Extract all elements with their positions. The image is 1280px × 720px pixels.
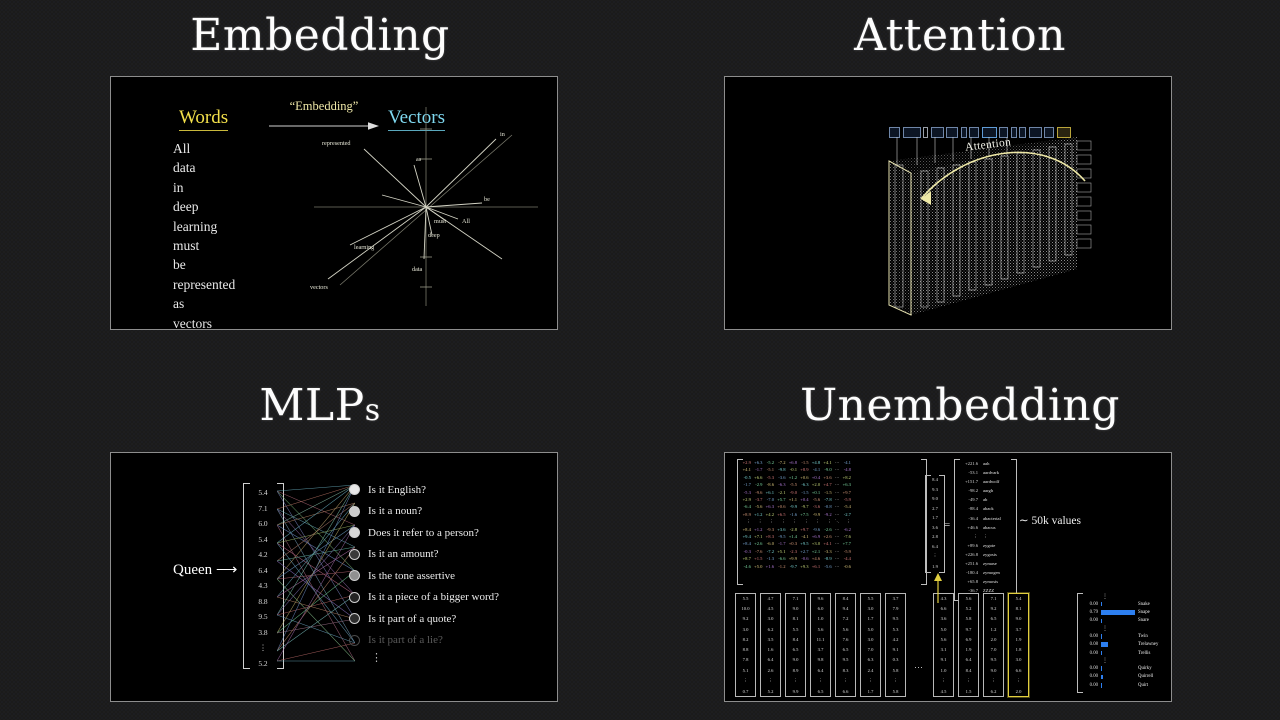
matrix-cell: -5.1	[764, 466, 776, 473]
equals-sign: =	[944, 519, 950, 531]
prediction-value: 0.79	[1085, 610, 1098, 615]
neuron-dot-icon	[349, 484, 360, 495]
prediction-distribution: ⋮0.00Snake0.79Snape0.00Snare⋮0.00Twin0.0…	[1085, 593, 1172, 690]
matrix-cell: -4.4	[841, 555, 853, 562]
matrix-cell: -5.9	[841, 496, 853, 503]
matrix-cell: -7.8	[822, 496, 834, 503]
prediction-row[interactable]: 0.00Quirt	[1085, 681, 1172, 689]
context-value: 2.6	[768, 668, 774, 673]
prediction-bar	[1101, 683, 1102, 688]
context-value: 5.8	[893, 668, 899, 673]
context-vector-grid: 5.510.09.23.08.28.87.85.1⋮0.74.74.53.06.…	[735, 593, 1029, 697]
prediction-word: Snare	[1138, 618, 1172, 623]
plot-label: vectors	[310, 284, 328, 291]
input-vector-value: 6.4	[932, 544, 938, 549]
matrix-cell: +1.4	[787, 533, 799, 540]
prediction-bar	[1101, 619, 1102, 624]
matrix-cell: -0.8	[822, 503, 834, 510]
context-column[interactable]: 9.66.01.05.611.13.79.86.4⋮6.5	[810, 593, 831, 697]
matrix-cell: +8.3	[764, 533, 776, 540]
matrix-row: +8.4+2.6-6.0-1.7+0.3+9.5+3.0+4.1⋯+7.7	[741, 540, 853, 547]
unembedding-title: Unembedding	[640, 380, 1280, 432]
prediction-row[interactable]: 0.00Trellis	[1085, 649, 1172, 657]
vector-value: 5.2	[258, 659, 267, 668]
prediction-row[interactable]: 0.00Snare	[1085, 617, 1172, 625]
word-item: All	[173, 139, 235, 158]
matrix-cell: -0.6	[841, 563, 853, 570]
input-vector-value: 2.8	[932, 534, 938, 539]
context-value: 11.1	[817, 637, 825, 642]
context-column[interactable]: 3.77.99.55.34.29.10.35.8⋮5.8	[885, 593, 906, 697]
prediction-bar-track	[1101, 675, 1135, 680]
context-value: ⋮	[991, 678, 996, 684]
matrix-cell: +0.4	[799, 496, 811, 503]
context-value: 1.9	[966, 647, 972, 652]
prediction-value: 0.08	[1085, 642, 1098, 647]
context-column[interactable]: 5.53.01.75.03.07.06.32.4⋮1.7	[860, 593, 881, 697]
context-value: 3.7	[1016, 627, 1022, 632]
matrix-cell: -6.6	[776, 555, 788, 562]
context-value: 3.0	[768, 616, 774, 621]
context-value: 6.3	[868, 657, 874, 662]
plot-label: represented	[322, 140, 351, 147]
matrix-cell: +1.2	[787, 474, 799, 481]
output-word: zymosis	[983, 577, 1017, 586]
neuron-dot-icon	[349, 549, 360, 560]
matrix-cell: -9.0	[787, 489, 799, 496]
matrix-row: -6.4-5.6+6.3+0.6-9.9-9.7-3.6-0.8⋯-5.4	[741, 503, 853, 510]
mlp-question-row[interactable]: Is it part of a lie?	[349, 630, 549, 652]
context-value: 1.6	[768, 647, 774, 652]
matrix-cell: -1.3	[764, 555, 776, 562]
context-value: 1.9	[1016, 637, 1022, 642]
context-column[interactable]: 4.36.63.65.05.63.19.11.0⋮4.5	[933, 593, 954, 697]
input-vector-value: ⋮	[933, 553, 938, 559]
context-value: 9.5	[843, 657, 849, 662]
matrix-cell: -9.8	[776, 466, 788, 473]
output-row: -180.4zymogen	[957, 568, 1017, 577]
context-value: 8.4	[966, 668, 972, 673]
word-item: vectors	[173, 314, 235, 330]
matrix-cell: ⋮	[741, 518, 753, 525]
prediction-bar	[1101, 675, 1103, 680]
matrix-cell: -3.3	[822, 548, 834, 555]
matrix-cell: +1.1	[787, 496, 799, 503]
context-value: 9.0	[793, 657, 799, 662]
context-value: 9.2	[743, 616, 749, 621]
prediction-value: 0.00	[1085, 666, 1098, 671]
matrix-row: +2.9-3.7-7.0+5.7+1.1+0.4-5.6-7.8⋯-5.9	[741, 496, 853, 503]
context-value: ⋮	[941, 678, 946, 684]
context-value: 5.6	[966, 596, 972, 601]
embedding-word-list: All data in deep learning must be repres…	[173, 139, 235, 330]
input-vector-value: 2.7	[932, 506, 938, 511]
prediction-ellipsis: ⋮	[1085, 593, 1172, 600]
matrix-cell: +4.6	[810, 555, 822, 562]
matrix-cell: -2.9	[753, 481, 765, 488]
context-value: 6.6	[941, 606, 947, 611]
matrix-cell: +5.0	[753, 563, 765, 570]
context-value: ⋮	[743, 678, 748, 684]
prediction-row[interactable]: 0.08Trelawney	[1085, 641, 1172, 649]
value-count-annotation: ∼ 50k values	[1019, 513, 1081, 527]
context-value: 5.1	[743, 668, 749, 673]
context-value: 6.4	[966, 657, 972, 662]
matrix-cell: +8.9	[741, 511, 753, 518]
mlp-question-label: Is it English?	[368, 484, 426, 496]
mlp-question-label: Is it an amount?	[368, 548, 439, 560]
matrix-cell: -1.2	[776, 563, 788, 570]
vector-value: 7.1	[258, 504, 267, 513]
matrix-cell: -5.2	[764, 459, 776, 466]
prediction-bar-track	[1101, 602, 1135, 607]
matrix-cell: +2.9	[741, 496, 753, 503]
output-row: -98.2aargh	[957, 486, 1017, 495]
mlp-question-label: Is the tone assertive	[368, 570, 455, 582]
output-row: +46.6abacus	[957, 523, 1017, 532]
prediction-bar-track	[1101, 634, 1135, 639]
plot-label: in	[500, 131, 505, 138]
context-value: 9.4	[843, 606, 849, 611]
word-item: must	[173, 236, 235, 255]
word-item: represented	[173, 275, 235, 294]
matrix-cell: -4.1	[841, 459, 853, 466]
matrix-cell: -1.7	[741, 481, 753, 488]
matrix-cell: ⋯	[833, 496, 841, 503]
matrix-cell: -3.6	[810, 503, 822, 510]
output-value: +251.6	[957, 559, 978, 568]
matrix-cell: +6.3	[841, 481, 853, 488]
output-row: ⋮⋮	[957, 532, 1017, 541]
context-value: 9.5	[991, 657, 997, 662]
context-value: 6.5	[991, 616, 997, 621]
matrix-cell: +0.6	[799, 474, 811, 481]
context-value: 6.6	[843, 689, 849, 694]
matrix-cell: ⋯	[833, 548, 841, 555]
context-value: ⋮	[818, 678, 823, 684]
output-row: +65.8zymosis	[957, 577, 1017, 586]
context-value: 8.1	[793, 616, 799, 621]
context-value: 1.0	[818, 616, 824, 621]
context-value: 10.0	[741, 606, 749, 611]
matrix-cell: -9.6	[810, 526, 822, 533]
matrix-cell: -9.9	[810, 511, 822, 518]
matrix-cell: ⋯	[833, 489, 841, 496]
output-value: -36.4	[957, 514, 978, 523]
output-value: +226.8	[957, 550, 978, 559]
matrix-cell: -9.3	[764, 526, 776, 533]
context-value: 3.0	[1016, 657, 1022, 662]
plot-label: learning	[354, 244, 374, 251]
output-word: abacterial	[983, 514, 1017, 523]
context-value: 5.6	[818, 627, 824, 632]
matrix-cell: +9.7	[799, 526, 811, 533]
prediction-value: 0.00	[1085, 674, 1098, 679]
matrix-cell: -9.6	[753, 489, 765, 496]
output-word: aback	[983, 504, 1017, 513]
input-vector-value: 1.9	[932, 564, 938, 569]
matrix-cell: +1.6	[764, 563, 776, 570]
neuron-dot-icon	[349, 506, 360, 517]
embedding-vector-plot: in represented as be All must deep learn…	[306, 99, 546, 314]
prediction-row[interactable]: 0.00Quirrell	[1085, 673, 1172, 681]
context-value: 9.6	[818, 596, 824, 601]
context-value: 6.5	[818, 689, 824, 694]
matrix-cell: -6.3	[799, 481, 811, 488]
context-value: 6.5	[843, 647, 849, 652]
matrix-cell: ⋮	[799, 518, 811, 525]
prediction-bar-track	[1101, 619, 1135, 624]
mlp-question-list: Is it English? Is it a noun? Does it ref…	[349, 479, 549, 664]
input-vector-value: 1.7	[932, 515, 938, 520]
output-word: abacus	[983, 523, 1017, 532]
output-value: +151.7	[957, 477, 978, 486]
plot-label: data	[412, 266, 423, 273]
plot-label: as	[416, 156, 422, 163]
matrix-cell: +5.7	[776, 496, 788, 503]
matrix-cell: +2.9	[741, 459, 753, 466]
matrix-cell: ⋮	[776, 518, 788, 525]
vector-value: 5.4	[258, 488, 267, 497]
output-value: +65.8	[957, 577, 978, 586]
word-item: in	[173, 178, 235, 197]
prediction-row[interactable]: 0.00Quirky	[1085, 664, 1172, 672]
matrix-cell: -5.3	[764, 474, 776, 481]
matrix-row: +2.9+6.3-5.2-7.2+6.8-1.5+4.8+4.1⋯-4.1	[741, 459, 853, 466]
matrix-cell: ⋯	[833, 503, 841, 510]
context-value: 7.1	[793, 596, 799, 601]
matrix-cell: +1.2	[753, 511, 765, 518]
matrix-cell: -1.7	[776, 540, 788, 547]
prediction-bar	[1101, 634, 1102, 639]
prediction-word: Quirrell	[1138, 674, 1172, 679]
matrix-cell: -2.1	[776, 489, 788, 496]
matrix-cell: ⋯	[833, 511, 841, 518]
output-row: +221.6aah	[957, 459, 1017, 468]
mlp-question-row[interactable]: Does it refer to a person?	[349, 522, 549, 544]
context-value: 7.9	[893, 606, 899, 611]
matrix-cell: +0.4	[810, 474, 822, 481]
prediction-value: 0.00	[1085, 683, 1098, 688]
context-value: ⋮	[1016, 678, 1021, 684]
context-value: 9.7	[966, 627, 972, 632]
vector-value: 4.3	[258, 581, 267, 590]
input-vector-value: 3.6	[932, 525, 938, 530]
context-column[interactable]: 7.19.26.51.22.07.09.59.0⋮6.2	[983, 593, 1004, 697]
output-row: +151.7aardwolf	[957, 477, 1017, 486]
matrix-cell: -5.6	[822, 563, 834, 570]
matrix-cell: -9.9	[787, 503, 799, 510]
context-column[interactable]: 8.49.47.25.67.66.59.58.3⋮6.6	[835, 593, 856, 697]
context-value: 9.2	[991, 606, 997, 611]
matrix-cell: -5.3	[741, 489, 753, 496]
context-value: 5.0	[941, 627, 947, 632]
matrix-cell: ⋮	[810, 518, 822, 525]
matrix-cell: +4.8	[810, 459, 822, 466]
matrix-cell: ⋯	[833, 481, 841, 488]
matrix-cell: -7.2	[776, 459, 788, 466]
words-heading: Words	[179, 107, 228, 131]
prediction-bar-track	[1101, 683, 1135, 688]
matrix-cell: -7.2	[764, 548, 776, 555]
prediction-word: Snake	[1138, 602, 1172, 607]
matrix-cell: +2.6	[753, 540, 765, 547]
context-value: 5.3	[893, 627, 899, 632]
mlp-input-word: Queen ⟶	[173, 560, 237, 579]
quadrant-embedding: Embedding Words “Embedding” Vectors All …	[0, 0, 640, 360]
mlp-question-row[interactable]: Is it part of a quote?	[349, 608, 549, 630]
output-row: -88.4aback	[957, 504, 1017, 513]
context-column-highlighted[interactable]: 5.48.19.03.71.91.83.06.6⋮2.0	[1008, 593, 1029, 697]
vector-value: 9.5	[258, 612, 267, 621]
matrix-cell: -5.9	[841, 548, 853, 555]
output-row: +251.6zymase	[957, 559, 1017, 568]
output-row: -53.1aardvark	[957, 468, 1017, 477]
matrix-cell: -9.5	[776, 533, 788, 540]
matrix-cell: +3.0	[810, 540, 822, 547]
context-value: 8.4	[793, 637, 799, 642]
context-value: 5.0	[868, 627, 874, 632]
matrix-cell: -0.3	[741, 548, 753, 555]
mlp-question-row[interactable]: Is it a noun?	[349, 501, 549, 523]
word-item: data	[173, 158, 235, 177]
prediction-value: 0.00	[1085, 634, 1098, 639]
matrix-cell: -8.6	[764, 481, 776, 488]
attention-block-diagram	[725, 77, 1171, 329]
input-vector-value: 8.4	[932, 477, 938, 482]
matrix-cell: +8.4	[741, 540, 753, 547]
context-value: 9.1	[941, 657, 947, 662]
mlp-question-row[interactable]: Is it English?	[349, 479, 549, 501]
context-value: 2.0	[991, 637, 997, 642]
quadrant-attention: Attention	[640, 0, 1280, 360]
prediction-bar-track	[1101, 642, 1135, 647]
prediction-row[interactable]: 0.00Twin	[1085, 632, 1172, 640]
neuron-dot-icon	[349, 613, 360, 624]
matrix-cell: +0.3	[787, 540, 799, 547]
context-value: 8.8	[743, 647, 749, 652]
matrix-cell: -9.0	[822, 466, 834, 473]
context-value: 5.5	[743, 596, 749, 601]
prediction-bar	[1101, 666, 1102, 671]
context-value: 1.5	[966, 689, 972, 694]
context-value: 5.5	[868, 596, 874, 601]
mlp-question-label: Is it a noun?	[368, 505, 422, 517]
matrix-cell: -5.4	[841, 503, 853, 510]
mlp-question-label: Is it a piece of a bigger word?	[368, 591, 499, 603]
output-value: -53.1	[957, 468, 978, 477]
matrix-row: -0.3-7.6-7.2+5.1-2.3+2.7+2.1-3.3⋯-5.9	[741, 548, 853, 555]
context-value: 5.2	[768, 689, 774, 694]
matrix-row: +8.4+1.2-9.3+3.6-2.8+9.7-9.6-2.6⋯-6.2	[741, 526, 853, 533]
output-value: -98.2	[957, 486, 978, 495]
context-value: 9.0	[1016, 616, 1022, 621]
matrix-cell: +2.6	[822, 533, 834, 540]
context-column[interactable]: 4.74.53.06.23.51.66.42.6⋮5.2	[760, 593, 781, 697]
matrix-cell: +6.5	[776, 511, 788, 518]
neuron-dot-icon	[349, 635, 360, 646]
context-value: 6.4	[768, 657, 774, 662]
unembedding-input-vector: 8.49.39.02.71.73.62.86.4⋮1.9	[927, 477, 943, 569]
prediction-value: 0.00	[1085, 651, 1098, 656]
prediction-ellipsis: ⋮	[1085, 657, 1172, 664]
matrix-cell: -7.0	[764, 496, 776, 503]
matrix-cell: ⋮	[822, 518, 834, 525]
matrix-cell: +4.2	[764, 511, 776, 518]
context-value: ⋮	[843, 678, 848, 684]
output-word: ⋮	[983, 532, 1017, 541]
plot-label: All	[462, 218, 470, 225]
plot-label: must	[434, 218, 446, 225]
output-row: -36.4abacterial	[957, 514, 1017, 523]
embedding-title: Embedding	[0, 10, 640, 62]
prediction-bar	[1101, 642, 1108, 647]
context-value: 9.9	[793, 689, 799, 694]
context-value: ⋮	[793, 678, 798, 684]
context-value: 5.8	[893, 689, 899, 694]
matrix-cell: ⋯	[833, 533, 841, 540]
prediction-bar	[1101, 610, 1135, 615]
matrix-cell: +5.1	[776, 548, 788, 555]
context-value: 0.3	[893, 657, 899, 662]
matrix-cell: -3.7	[753, 496, 765, 503]
matrix-cell: +8.7	[741, 555, 753, 562]
matrix-cell: -4.1	[799, 533, 811, 540]
matrix-cell: +8.2	[841, 474, 853, 481]
embedding-panel: Words “Embedding” Vectors All data in de…	[110, 76, 558, 330]
matrix-cell: ⋱	[833, 518, 841, 525]
context-column[interactable]: 7.19.08.15.58.46.59.08.9⋮9.9	[785, 593, 806, 697]
context-value: 1.0	[941, 668, 947, 673]
matrix-cell: +8.4	[741, 526, 753, 533]
mlp-question-label: Is it part of a lie?	[368, 634, 443, 646]
context-value: ⋮	[966, 678, 971, 684]
prediction-word: Snape	[1138, 610, 1172, 615]
matrix-cell: +3.6	[776, 526, 788, 533]
matrix-cell: -1.5	[822, 489, 834, 496]
mlp-question-row[interactable]: Is the tone assertive	[349, 565, 549, 587]
matrix-cell: -4.6	[741, 563, 753, 570]
prediction-row[interactable]: 0.00Snake	[1085, 600, 1172, 608]
mlp-question-row[interactable]: Is it an amount?	[349, 544, 549, 566]
matrix-table: +2.9+6.3-5.2-7.2+6.8-1.5+4.8+4.1⋯-4.1+4.…	[741, 459, 853, 570]
context-column[interactable]: 5.65.25.89.76.91.96.48.4⋮1.5	[958, 593, 979, 697]
highlight-up-arrow-icon	[925, 573, 951, 603]
matrix-row: -4.6+5.0+1.6-1.2-9.7+9.3+6.1-5.6⋯-0.6	[741, 563, 853, 570]
prediction-bar	[1101, 602, 1102, 607]
context-column[interactable]: 5.510.09.23.08.28.87.85.1⋮0.7	[735, 593, 756, 697]
output-word: aardwolf	[983, 477, 1017, 486]
prediction-bracket	[1077, 593, 1083, 693]
matrix-cell: -7.6	[841, 533, 853, 540]
context-value: 8.4	[843, 596, 849, 601]
matrix-cell: +3.6	[822, 474, 834, 481]
context-value: 7.6	[843, 637, 849, 642]
context-value: 9.1	[893, 647, 899, 652]
context-value: 6.4	[818, 668, 824, 673]
matrix-row: ⋮⋮⋮⋮⋮⋮⋮⋮⋱⋮	[741, 518, 853, 525]
matrix-cell: -6.0	[764, 540, 776, 547]
context-value: 3.5	[768, 637, 774, 642]
matrix-cell: +1.5	[753, 555, 765, 562]
prediction-row[interactable]: 0.79Snape	[1085, 608, 1172, 616]
word-item: learning	[173, 217, 235, 236]
context-value: 5.6	[843, 627, 849, 632]
mlp-question-row[interactable]: Is it a piece of a bigger word?	[349, 587, 549, 609]
output-value: ⋮	[957, 532, 978, 541]
matrix-cell: -2.7	[841, 511, 853, 518]
matrix-cell: +6.1	[810, 563, 822, 570]
